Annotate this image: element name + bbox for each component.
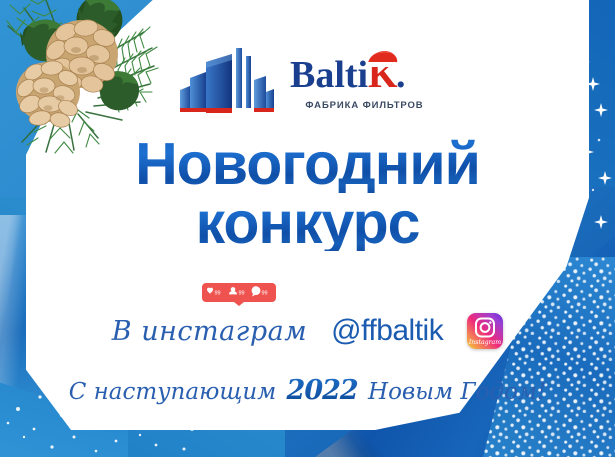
follower-count: 99 — [239, 291, 245, 297]
instagram-call-to-action: В инстаграм — [112, 316, 307, 347]
like-count: 99 — [215, 291, 221, 297]
greeting-suffix: Новым Годом! — [368, 379, 546, 405]
instagram-wordmark: Instagram — [468, 339, 501, 346]
brand-name-period: . — [396, 54, 406, 96]
instagram-handle[interactable]: @ffbaltik — [331, 314, 443, 348]
greeting-prefix: С наступающим — [69, 379, 276, 405]
page-title: Новогодний конкурс — [0, 136, 615, 251]
comment-count: 99 — [262, 291, 268, 297]
new-year-greeting: С наступающим 2022 Новым Годом! — [0, 375, 615, 406]
headline-line-1: Новогодний — [0, 136, 615, 193]
instagram-icon: Instagram — [467, 313, 503, 349]
brand-name-balti: Balti — [290, 54, 368, 96]
headline-line-2: конкурс — [0, 195, 615, 252]
brand-name-text: Balti K . — [290, 49, 440, 99]
greeting-year: 2022 — [284, 375, 361, 406]
santa-hat-icon — [362, 51, 398, 67]
brand-logo: Balti K . ФАБРИКА ФИЛЬТРОВ — [0, 34, 615, 126]
brand-wordmark: Balti K . ФАБРИКА ФИЛЬТРОВ — [290, 49, 440, 111]
social-notification-badge: 99 99 99 — [202, 283, 276, 306]
instagram-badge[interactable]: Instagram — [467, 313, 503, 349]
factory-building-icon — [176, 42, 280, 118]
instagram-promo-row: В инстаграм @ffbaltik Instagram — [0, 308, 615, 354]
new-year-contest-poster: Balti K . ФАБРИКА ФИЛЬТРОВ Новогодний ко… — [0, 0, 615, 457]
brand-tagline: ФАБРИКА ФИЛЬТРОВ — [305, 100, 423, 111]
